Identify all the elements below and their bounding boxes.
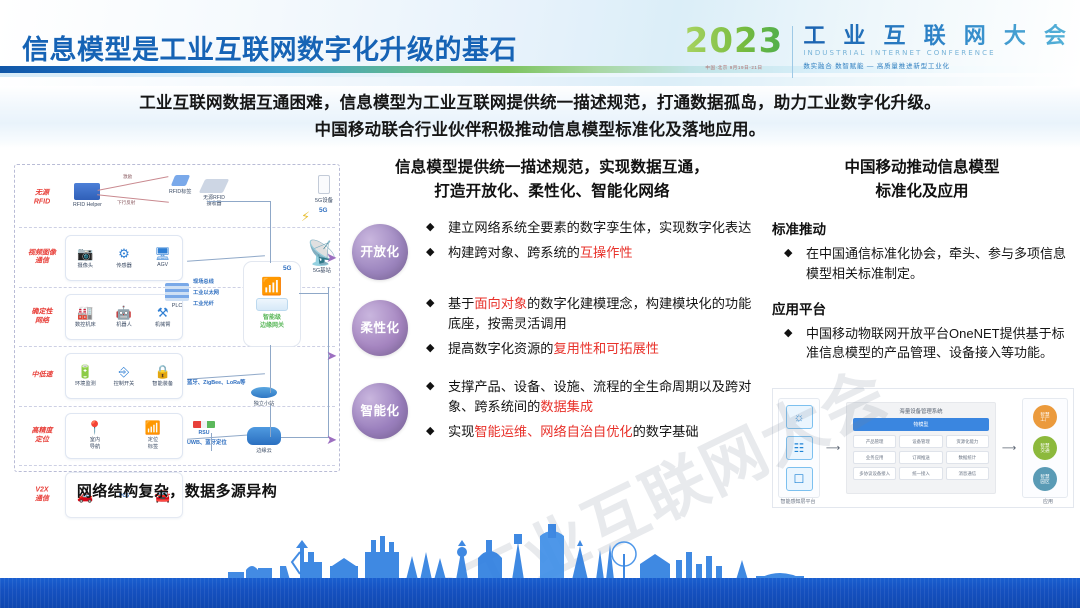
device-label: 传感器 xyxy=(116,262,132,269)
subtitle-text: 工业互联网数据互通困难，信息模型为工业互联网提供统一描述规范，打通数据孤岛，助力… xyxy=(0,90,1080,143)
feature-block: 柔性化◆基于面向对象的数字化建模理念，构建模块化的功能底座，按需灵活调用◆提高数… xyxy=(352,294,752,363)
feature-bullet: ◆支撑产品、设备、设施、流程的全生命周期以及跨对象、跨系统间的数据集成 xyxy=(426,377,752,417)
diagram-row-label: 中低速 xyxy=(24,372,60,381)
device-label: AGV xyxy=(157,262,168,268)
bullet-diamond-icon: ◆ xyxy=(426,295,434,312)
middle-heading-line-2: 打造开放化、柔性化、智能化网络 xyxy=(352,180,752,204)
small-cell-label: 独立小站 xyxy=(254,400,275,407)
camera-icon: 📷摄像头 xyxy=(68,247,102,269)
platform-capability-chip: 业务应用 xyxy=(853,451,896,464)
device-label: 定位标签 xyxy=(148,436,158,450)
slide-body: 无源RFID RFID Helper 激励 下行反射 xyxy=(0,150,1080,540)
middle-heading: 信息模型提供统一描述规范，实现数据互通， 打造开放化、柔性化、智能化网络 xyxy=(352,156,752,204)
diagram-wire xyxy=(207,201,271,202)
location-pin-icon: 📍室内导航 xyxy=(78,421,112,450)
diagram-wire xyxy=(270,345,271,393)
switch-icon: ⎆控制开关 xyxy=(107,365,141,387)
diagram-wire xyxy=(211,433,212,451)
diagram-link: 蓝牙、ZigBee、LoRa等 xyxy=(187,368,265,384)
page-title: 信息模型是工业互联网数字化升级的基石 xyxy=(22,28,517,67)
bullet-diamond-icon: ◆ xyxy=(426,244,434,261)
protocol-label: UWB、蓝牙定位 xyxy=(187,438,227,446)
platform-right-caption: 应用 xyxy=(1023,498,1073,505)
feature-bullet: ◆构建跨对象、跨系统的互操作性 xyxy=(426,243,752,263)
device-5g-node: 5G设备 xyxy=(315,175,333,204)
bullet-text: 提高数字化资源的 xyxy=(448,341,554,356)
platform-applications: 智慧工厂 智慧交通 智慧园区 xyxy=(1022,398,1068,498)
platform-capability-grid: 产品管理设备管理资源化能力业务应用订阅推送数据统计多协议设备接入统一接入消息通信 xyxy=(853,435,989,480)
diagram-outflow-arrow-icon: ➤ xyxy=(326,251,337,264)
tag-5g-a: 5G xyxy=(319,207,328,214)
bullet-text-highlight: 数据集成 xyxy=(540,399,593,414)
bullet-diamond-icon: ◆ xyxy=(426,219,434,236)
platform-capability-chip: 数据统计 xyxy=(946,451,989,464)
edge-gateway-label: 智能级边缘网关 xyxy=(260,315,284,331)
feature-bullet: ◆基于面向对象的数字化建模理念，构建模块化的功能底座，按需灵活调用 xyxy=(426,294,752,334)
rfid-arrow-bottom-label: 下行反射 xyxy=(117,200,135,206)
device-icon: 🔒智能装备 xyxy=(146,365,180,387)
section-bullet-platform: ◆ 中国移动物联网开放平台OneNET提供基于标准信息模型的产品管理、设备接入等… xyxy=(772,324,1072,364)
feature-block: 智能化◆支撑产品、设备、设施、流程的全生命周期以及跨对象、跨系统间的数据集成◆实… xyxy=(352,377,752,446)
protocol-label: 蓝牙、ZigBee、LoRa等 xyxy=(187,378,245,386)
bullet-diamond-icon: ◆ xyxy=(426,340,434,357)
network-diagram: 无源RFID RFID Helper 激励 下行反射 xyxy=(14,164,340,472)
diagram-outflow-arrow-icon: ➤ xyxy=(326,433,337,446)
feature-bullet: ◆建立网络系统全要素的数字孪生体，实现数字化表达 xyxy=(426,218,752,238)
app-circle-smart-park: 智慧园区 xyxy=(1033,467,1057,491)
platform-capability-chip: 多协议设备接入 xyxy=(853,467,896,480)
section-bullet-standards: ◆ 在中国通信标准化协会，牵头、参与多项信息模型相关标准制定。 xyxy=(772,244,1072,284)
feature-badge: 开放化 xyxy=(352,224,408,280)
feature-bullets: ◆基于面向对象的数字化建模理念，构建模块化的功能底座，按需灵活调用◆提高数字化资… xyxy=(408,294,752,363)
diagram-wire xyxy=(270,201,271,263)
platform-core: 海量设备管理系统 物模型 产品管理设备管理资源化能力业务应用订阅推送数据统计多协… xyxy=(846,402,996,494)
middle-column: 信息模型提供统一描述规范，实现数据互通， 打造开放化、柔性化、智能化网络 开放化… xyxy=(352,156,752,536)
edge-gateway-node: 📶 智能级边缘网关 xyxy=(243,261,301,347)
subtitle-line-2: 中国移动联合行业伙伴积极推动信息模型标准化及落地应用。 xyxy=(0,117,1080,144)
router-icon xyxy=(256,298,288,311)
feature-list: 开放化◆建立网络系统全要素的数字孪生体，实现数字化表达◆构建跨对象、跨系统的互操… xyxy=(352,218,752,447)
rfid-arrow-top-label: 激励 xyxy=(123,174,132,180)
base-station-5g-label: 5G基站 xyxy=(313,266,331,274)
device-label: 摄像头 xyxy=(78,262,94,269)
device-label: 室内导航 xyxy=(90,436,100,450)
device-label: 数控机床 xyxy=(75,321,96,328)
bullet-text: 支撑产品、设备、设施、流程的全生命周期以及跨对象、跨系统间的 xyxy=(448,379,751,414)
diagram-row-label: 确定性网络 xyxy=(24,308,60,326)
cloud-icon xyxy=(247,427,281,445)
wifi-icon: 📶 xyxy=(261,278,282,295)
logo-year: 2023 xyxy=(685,24,784,58)
robot-icon: 🤖机器人 xyxy=(107,306,141,328)
platform-capability-chip: 设备管理 xyxy=(899,435,942,448)
feature-bullet: ◆提高数字化资源的复用性和可拓展性 xyxy=(426,339,752,359)
rfid-tag-icon xyxy=(171,175,190,186)
edge-cloud-node: 边缘云 xyxy=(247,427,281,454)
logo-name-block: 工 业 互 联 网 大 会 INDUSTRIAL INTERNET CONFER… xyxy=(793,24,1072,70)
diagram-wire xyxy=(270,405,271,437)
logo-year-subtext: 中国·北京 9月19日-21日 xyxy=(705,65,762,71)
robot-arm-icon: ⚒机械臂 xyxy=(146,306,180,328)
diagram-row-label: 视频图像通信 xyxy=(24,249,60,267)
flow-arrow-right-icon: ⟶ xyxy=(996,443,1022,454)
middle-heading-line-1: 信息模型提供统一描述规范，实现数据互通， xyxy=(352,156,752,180)
bullet-text: 构建跨对象、跨系统的 xyxy=(448,245,580,260)
rsu-icon xyxy=(193,421,215,428)
logo-english-name: INDUSTRIAL INTERNET CONFERENCE xyxy=(803,49,1072,57)
device-label: 智能装备 xyxy=(152,380,173,387)
feature-badge-char: 性 xyxy=(373,321,386,335)
bullet-text-highlight: 智能运维、网络自治自优化 xyxy=(474,424,632,439)
bullet-text-highlight: 复用性和可拓展性 xyxy=(554,341,660,356)
diagram-device-card: 📍室内导航 📶定位标签 xyxy=(65,413,183,459)
diagram-caption: 网络结构复杂，数据多源异构 xyxy=(14,480,340,501)
diagram-outflow-arrow-icon: ➤ xyxy=(326,349,337,362)
section-title-standards: 标准推动 xyxy=(772,218,1072,238)
slide-footer xyxy=(0,528,1080,608)
platform-capability-chip: 消息通信 xyxy=(946,467,989,480)
plc-label: PLC xyxy=(172,303,183,309)
right-heading: 中国移动推动信息模型 标准化及应用 xyxy=(772,156,1072,204)
feature-badge-char: 化 xyxy=(387,321,400,335)
right-heading-line-1: 中国移动推动信息模型 xyxy=(772,156,1072,180)
rsu-label: RSU xyxy=(199,430,210,436)
rfid-tag-label: RFID标签 xyxy=(169,188,191,195)
platform-sensing-layer: ☼ ☷ ☐ xyxy=(778,398,820,498)
slide-header: 信息模型是工业互联网数字化升级的基石 2023 中国·北京 9月19日-21日 … xyxy=(0,0,1080,86)
plc-icon xyxy=(165,283,189,301)
feature-block: 开放化◆建立网络系统全要素的数字孪生体，实现数字化表达◆构建跨对象、跨系统的互操… xyxy=(352,218,752,280)
bullet-diamond-icon: ◆ xyxy=(426,378,434,395)
diagram-row-rfid: 无源RFID RFID Helper 激励 下行反射 xyxy=(19,169,335,228)
bullet-text: 基于 xyxy=(448,296,474,311)
rfid-tag-node: RFID标签 xyxy=(169,175,191,195)
bullet-text-highlight: 面向对象 xyxy=(474,296,527,311)
terminal-tile-icon: ☐ xyxy=(786,467,813,491)
diagram-row-label: 无源RFID xyxy=(24,189,60,207)
feature-bullets: ◆支撑产品、设备、设施、流程的全生命周期以及跨对象、跨系统间的数据集成◆实现智能… xyxy=(408,377,752,446)
rfid-arrow-up xyxy=(98,176,169,191)
rfid-receiver-icon xyxy=(199,179,230,193)
platform-capability-chip: 订阅推送 xyxy=(899,451,942,464)
plc-protocol-list: 现场总线 工业以太网 工业光纤 xyxy=(193,277,219,310)
app-circle-smart-factory: 智慧工厂 xyxy=(1033,405,1057,429)
bullet-text: 中国移动物联网开放平台OneNET提供基于标准信息模型的产品管理、设备接入等功能… xyxy=(806,326,1065,361)
device-label: 机器人 xyxy=(116,321,132,328)
device-label: 控制开关 xyxy=(114,380,135,387)
platform-capability-chip: 产品管理 xyxy=(853,435,896,448)
plc-protocol-item: 工业以太网 xyxy=(193,288,219,299)
city-skyline-graphic xyxy=(0,522,1080,580)
sensor-tile-icon: ☼ xyxy=(786,405,813,429)
bullet-diamond-icon: ◆ xyxy=(784,245,792,262)
tag-5g-b: 5G xyxy=(283,265,292,272)
meter-icon: 🔋环境监测 xyxy=(68,365,102,387)
bullet-diamond-icon: ◆ xyxy=(784,325,792,342)
diagram-row-midspeed: 中低速 🔋环境监测 ⎆控制开关 🔒智能装备 蓝牙、ZigBee、LoRa等 xyxy=(19,347,335,406)
footer-ground-band xyxy=(0,578,1080,608)
platform-core-title: 海量设备管理系统 xyxy=(853,407,989,415)
flow-arrow-left-icon: ⟶ xyxy=(820,443,846,454)
diagram-device-card: 🔋环境监测 ⎆控制开关 🔒智能装备 xyxy=(65,353,183,399)
bullet-text: 建立网络系统全要素的数字孪生体，实现数字化表达 xyxy=(448,220,751,235)
feature-badge-char: 智 xyxy=(360,404,373,418)
device-label: 环境监测 xyxy=(75,380,96,387)
subtitle-line-1: 工业互联网数据互通困难，信息模型为工业互联网提供统一描述规范，打通数据孤岛，助力… xyxy=(139,94,941,112)
feature-badge-char: 柔 xyxy=(360,321,373,335)
logo-tagline: 数实融合 数智赋能 — 高质量推进新型工业化 xyxy=(803,60,1072,70)
network-diagram-frame: 无源RFID RFID Helper 激励 下行反射 xyxy=(14,164,340,472)
diagram-wire xyxy=(281,437,329,438)
signal-bolt-icon: ⚡ xyxy=(301,209,310,225)
feature-badge-char: 开 xyxy=(360,245,373,259)
edge-cloud-label: 边缘云 xyxy=(256,447,272,454)
diagram-device-card: 📷摄像头 ⚙传感器 🖥AGV xyxy=(65,235,183,281)
logo-year-block: 2023 中国·北京 9月19日-21日 xyxy=(685,24,793,71)
platform-model-bar: 物模型 xyxy=(853,418,989,431)
gateway-tile-icon: ☷ xyxy=(786,436,813,460)
sensor-icon: ⚙传感器 xyxy=(107,247,141,269)
plc-protocol-item: 工业光纤 xyxy=(193,299,219,310)
platform-left-caption: 智能感知层平台 xyxy=(773,498,823,505)
feature-bullet: ◆实现智能运维、网络自治自优化的数字基础 xyxy=(426,422,752,442)
bullet-text: 实现 xyxy=(448,424,474,439)
bullet-text-highlight: 互操作性 xyxy=(580,245,633,260)
rfid-signal-arrows: 激励 下行反射 xyxy=(97,181,179,203)
feature-badge-char: 能 xyxy=(373,404,386,418)
feature-badge-char: 放 xyxy=(373,245,386,259)
bullet-diamond-icon: ◆ xyxy=(426,423,434,440)
plc-node: PLC xyxy=(165,283,189,309)
nc-machine-icon: 🏭数控机床 xyxy=(68,306,102,328)
platform-screenshot-inner: ☼ ☷ ☐ ⟶ 海量设备管理系统 物模型 产品管理设备管理资源化能力业务应用订阅… xyxy=(778,394,1068,502)
bullet-text: 的数字基础 xyxy=(633,424,699,439)
rfid-receiver-node: 无源RFID接收器 xyxy=(191,179,237,207)
agv-icon: 🖥AGV xyxy=(146,247,180,268)
app-circle-smart-traffic: 智慧交通 xyxy=(1033,436,1057,460)
positioning-icon: 📶定位标签 xyxy=(136,421,170,450)
diagram-wire xyxy=(299,293,329,294)
slide-root: 信息模型是工业互联网数字化升级的基石 2023 中国·北京 9月19日-21日 … xyxy=(0,0,1080,608)
feature-badge: 智能化 xyxy=(352,383,408,439)
plc-protocol-item: 现场总线 xyxy=(193,277,219,288)
platform-screenshot: ☼ ☷ ☐ ⟶ 海量设备管理系统 物模型 产品管理设备管理资源化能力业务应用订阅… xyxy=(772,388,1074,508)
device-5g-label: 5G设备 xyxy=(315,196,333,204)
feature-bullets: ◆建立网络系统全要素的数字孪生体，实现数字化表达◆构建跨对象、跨系统的互操作性 xyxy=(408,218,752,268)
small-cell-node: 独立小站 xyxy=(251,387,277,407)
diagram-row-label: 高精度定位 xyxy=(24,427,60,445)
feature-badge: 柔性化 xyxy=(352,300,408,356)
logo-chinese-name: 工 业 互 联 网 大 会 xyxy=(803,24,1072,47)
bullet-text: 在中国通信标准化协会，牵头、参与多项信息模型相关标准制定。 xyxy=(806,246,1066,281)
platform-capability-chip: 资源化能力 xyxy=(946,435,989,448)
platform-capability-chip: 统一接入 xyxy=(899,467,942,480)
small-cell-icon xyxy=(251,387,277,398)
feature-badge-char: 化 xyxy=(387,245,400,259)
conference-logo: 2023 中国·北京 9月19日-21日 工 业 互 联 网 大 会 INDUS… xyxy=(685,24,1072,80)
section-title-platform: 应用平台 xyxy=(772,298,1072,318)
device-label: 机械臂 xyxy=(155,321,171,328)
right-heading-line-2: 标准化及应用 xyxy=(772,180,1072,204)
phone-icon xyxy=(318,175,330,194)
feature-badge-char: 化 xyxy=(387,404,400,418)
